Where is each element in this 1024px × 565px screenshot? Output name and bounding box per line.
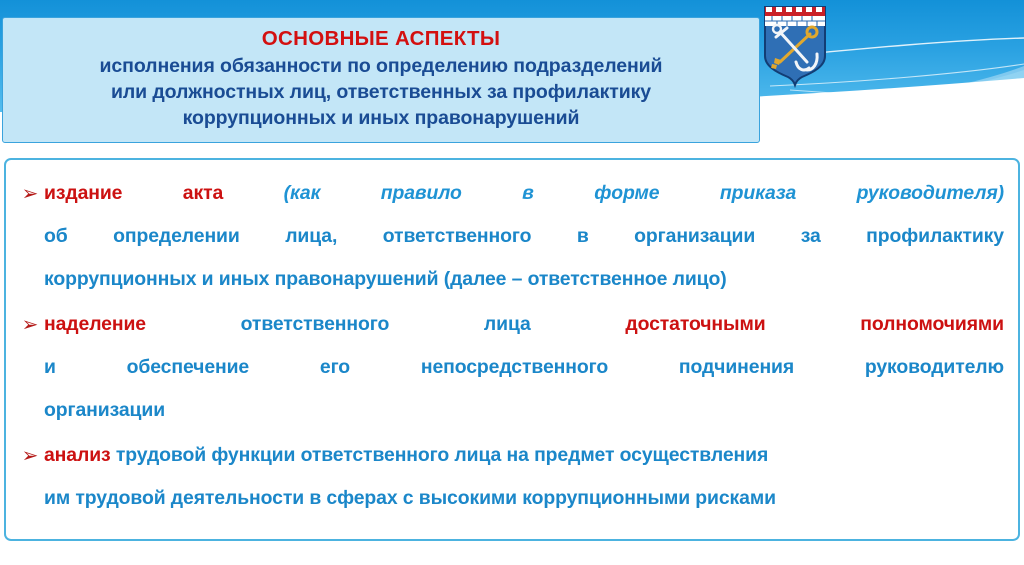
text-run: ответственного: [241, 303, 390, 346]
text-run: в: [522, 172, 534, 215]
text-run: и: [44, 346, 56, 389]
text-run: профилактику: [866, 215, 1004, 258]
text-run: наделение: [44, 303, 146, 346]
bullet-item: ➢наделениеответственноголицадостаточными…: [16, 303, 1004, 432]
bullet-line: организации: [44, 389, 1004, 432]
bullet-line: иобеспечениеегонепосредственногоподчинен…: [44, 346, 1004, 389]
text-run: непосредственного: [421, 346, 608, 389]
text-run: акта: [183, 172, 223, 215]
text-run: трудовой функции ответственного лица на …: [116, 444, 768, 466]
slide-title-subtitle-line-1: исполнения обязанности по определению по…: [100, 54, 663, 80]
bullet-line: изданиеакта(какправиловформеприказаруков…: [44, 172, 1004, 215]
slide-title-main: ОСНОВНЫЕ АСПЕКТЫ: [262, 26, 500, 51]
bullet-line: анализ трудовой функции ответственного л…: [44, 434, 1004, 477]
text-run: издание: [44, 172, 122, 215]
bullet-arrow-icon: ➢: [16, 434, 44, 477]
bullet-line: коррупционных и иных правонарушений (дал…: [44, 258, 1004, 301]
bullet-line: обопределениилица,ответственноговорганиз…: [44, 215, 1004, 258]
text-run: об: [44, 215, 68, 258]
bullet-arrow-icon: ➢: [16, 172, 44, 215]
text-run: организации: [44, 399, 165, 421]
bullet-text: изданиеакта(какправиловформеприказаруков…: [44, 172, 1004, 301]
content-box: ➢изданиеакта(какправиловформеприказаруко…: [4, 158, 1020, 541]
bullet-text: анализ трудовой функции ответственного л…: [44, 434, 1004, 520]
text-run: форме: [594, 172, 659, 215]
bullet-item: ➢изданиеакта(какправиловформеприказаруко…: [16, 172, 1004, 301]
bullet-line: им трудовой деятельности в сферах с высо…: [44, 477, 1004, 520]
text-run: лица,: [285, 215, 337, 258]
text-run: приказа: [720, 172, 796, 215]
slide-title-subtitle-line-3: коррупционных и иных правонарушений: [100, 106, 663, 132]
leningrad-oblast-coat-of-arms-icon: [762, 4, 828, 88]
text-run: (как: [284, 172, 321, 215]
text-run: ответственного: [383, 215, 532, 258]
text-run: коррупционных и иных правонарушений (дал…: [44, 268, 727, 290]
text-run: организации: [634, 215, 755, 258]
text-run: обеспечение: [127, 346, 250, 389]
slide-title-box: ОСНОВНЫЕ АСПЕКТЫ исполнения обязанности …: [2, 17, 760, 143]
text-run: руководителю: [865, 346, 1004, 389]
text-run: в: [577, 215, 589, 258]
text-run: руководителя): [857, 172, 1004, 215]
text-run: его: [320, 346, 350, 389]
slide-title-subtitle-line-2: или должностных лиц, ответственных за пр…: [100, 80, 663, 106]
text-run: им трудовой деятельности в сферах с высо…: [44, 487, 776, 509]
text-run: определении: [113, 215, 240, 258]
text-run: подчинения: [679, 346, 794, 389]
bullet-item: ➢анализ трудовой функции ответственного …: [16, 434, 1004, 520]
text-run: анализ: [44, 444, 116, 466]
text-run: правило: [381, 172, 462, 215]
text-run: за: [801, 215, 821, 258]
slide-title-subtitle: исполнения обязанности по определению по…: [100, 54, 663, 132]
text-run: достаточными: [625, 303, 765, 346]
bullet-text: наделениеответственноголицадостаточнымип…: [44, 303, 1004, 432]
text-run: полномочиями: [860, 303, 1004, 346]
bullet-line: наделениеответственноголицадостаточнымип…: [44, 303, 1004, 346]
text-run: лица: [484, 303, 531, 346]
bullet-arrow-icon: ➢: [16, 303, 44, 346]
bullet-list: ➢изданиеакта(какправиловформеприказаруко…: [16, 172, 1004, 520]
